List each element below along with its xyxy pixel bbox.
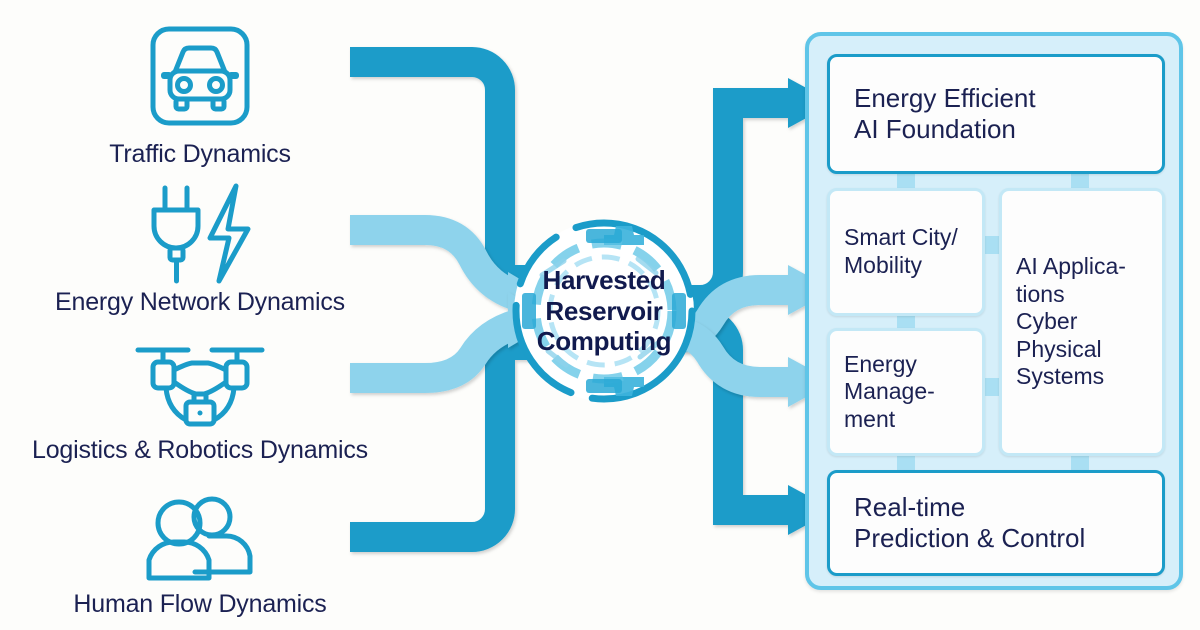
outputs-panel: Energy Efficient AI Foundation Smart Cit… (805, 32, 1183, 590)
energymgmt-line-2: Manage- (844, 378, 935, 404)
center-line-2: Reservoir (545, 296, 662, 326)
center-node-harvested-reservoir-computing: Harvested Reservoir Computing (508, 215, 700, 407)
aiapps-line-4: Physical (1016, 336, 1102, 362)
diagram-canvas: Traffic Dynamics Energy Network Dynamics (0, 0, 1200, 630)
car-icon (0, 22, 400, 138)
center-node-label: Harvested Reservoir Computing (508, 215, 700, 407)
realtime-line-2: Prediction & Control (854, 523, 1085, 553)
source-traffic-dynamics: Traffic Dynamics (0, 22, 400, 169)
source-label-logistics: Logistics & Robotics Dynamics (0, 436, 400, 465)
aiapps-line-5: Systems (1016, 363, 1104, 389)
center-line-1: Harvested (542, 265, 665, 295)
source-energy-network-dynamics: Energy Network Dynamics (0, 182, 400, 317)
smartcity-line-1: Smart City/ (844, 224, 958, 250)
source-label-energy-network: Energy Network Dynamics (0, 288, 400, 317)
aiapps-line-3: Cyber (1016, 308, 1077, 334)
output-box-realtime-prediction-control[interactable]: Real-time Prediction & Control (827, 470, 1165, 576)
drone-icon (0, 336, 400, 434)
source-label-traffic: Traffic Dynamics (0, 140, 400, 169)
foundation-line-2: AI Foundation (854, 114, 1016, 144)
output-box-ai-applications-cyber-physical-systems[interactable]: AI Applica- tions Cyber Physical Systems (999, 188, 1165, 456)
aiapps-line-1: AI Applica- (1016, 253, 1126, 279)
plug-lightning-icon (0, 182, 400, 286)
smartcity-line-2: Mobility (844, 252, 922, 278)
energymgmt-line-3: ment (844, 406, 895, 432)
source-logistics-robotics-dynamics: Logistics & Robotics Dynamics (0, 336, 400, 465)
people-icon (0, 492, 400, 588)
energymgmt-line-1: Energy (844, 351, 917, 377)
source-human-flow-dynamics: Human Flow Dynamics (0, 492, 400, 619)
center-line-3: Computing (537, 326, 672, 356)
realtime-line-1: Real-time (854, 492, 965, 522)
source-label-human-flow: Human Flow Dynamics (0, 590, 400, 619)
output-box-energy-management[interactable]: Energy Manage- ment (827, 328, 985, 456)
aiapps-line-2: tions (1016, 281, 1065, 307)
output-box-smart-city-mobility[interactable]: Smart City/ Mobility (827, 188, 985, 316)
foundation-line-1: Energy Efficient (854, 83, 1036, 113)
output-box-energy-efficient-ai-foundation[interactable]: Energy Efficient AI Foundation (827, 54, 1165, 174)
